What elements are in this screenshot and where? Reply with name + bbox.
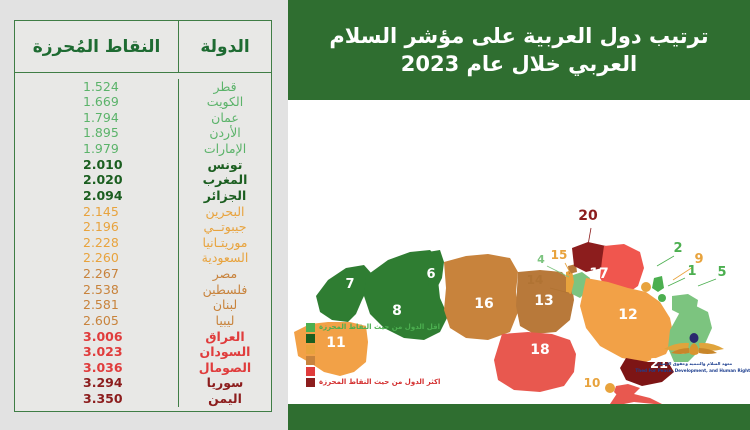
table-cell-points: 1.669 bbox=[15, 95, 178, 111]
table-cell-country: السعودية bbox=[179, 251, 271, 267]
table-cell-country: السودان bbox=[179, 345, 271, 361]
map-region-morocco[interactable] bbox=[316, 265, 372, 322]
map-leader-line bbox=[668, 278, 685, 286]
table-cell-country: البحرين bbox=[179, 204, 271, 220]
map-label[interactable]: 7 bbox=[345, 277, 354, 292]
legend-row-2 bbox=[306, 333, 466, 343]
table-cell-country: الصومال bbox=[179, 360, 271, 376]
map-leader-line bbox=[698, 279, 716, 286]
table-cell-country: موريتـانيا bbox=[179, 235, 271, 251]
table-cell-country: الكويت bbox=[179, 95, 271, 111]
map-region-sudan[interactable] bbox=[494, 332, 576, 392]
table-cell-points: 2.267 bbox=[15, 267, 178, 283]
legend-swatch-lowest bbox=[306, 323, 315, 332]
map-leader-line bbox=[657, 256, 674, 266]
column-header-country: الدولة bbox=[178, 21, 271, 72]
map-label[interactable]: 18 bbox=[530, 342, 549, 358]
legend-swatch-highest bbox=[306, 378, 315, 387]
legend-swatch-4 bbox=[306, 356, 315, 365]
table-header-row: الدولة النقاط المُحرزة bbox=[15, 21, 271, 73]
map-label[interactable]: 12 bbox=[618, 307, 637, 323]
table-cell-country: ليبيا bbox=[179, 313, 271, 329]
legend-row-5 bbox=[306, 366, 466, 376]
map-region-bahrain[interactable] bbox=[658, 294, 666, 302]
table-cell-points: 1.979 bbox=[15, 142, 178, 158]
map-label[interactable]: 5 bbox=[717, 265, 726, 280]
map-label[interactable]: 4 bbox=[537, 253, 545, 266]
page-title: ترتيب دول العربية على مؤشر السلام العربي… bbox=[319, 22, 719, 79]
table-cell-country: لبنان bbox=[179, 298, 271, 314]
table-cell-points: 2.196 bbox=[15, 220, 178, 236]
map-label[interactable]: 6 bbox=[426, 267, 435, 282]
table-cell-country: الإمارات bbox=[179, 142, 271, 158]
map-label[interactable]: 17 bbox=[589, 266, 608, 282]
map-label[interactable]: 9 bbox=[694, 252, 703, 267]
table-cell-country: قطر bbox=[179, 79, 271, 95]
table-cell-points: 2.605 bbox=[15, 313, 178, 329]
table-cell-points: 3.350 bbox=[15, 392, 178, 408]
table-cell-country: مصر bbox=[179, 267, 271, 283]
legend-swatch-2 bbox=[306, 334, 315, 343]
organization-logo: معهد السلام والتنمية وحقوق الإنسان Thed … bbox=[646, 318, 742, 374]
table-cell-points: 1.895 bbox=[15, 126, 178, 142]
column-header-points: النقاط المُحرزة bbox=[15, 21, 178, 72]
map-label[interactable]: 2 bbox=[673, 241, 682, 256]
map-label[interactable]: 20 bbox=[578, 208, 598, 224]
table-cell-points: 2.020 bbox=[15, 173, 178, 189]
table-cell-country: عمان bbox=[179, 110, 271, 126]
ranking-table: الدولة النقاط المُحرزة قطرالكويتعمانالأر… bbox=[14, 20, 272, 412]
table-cell-points: 2.145 bbox=[15, 204, 178, 220]
map-region-kuwait[interactable] bbox=[641, 282, 651, 292]
table-body: قطرالكويتعمانالأردنالإماراتتونسالمغربالج… bbox=[15, 73, 271, 411]
map-label[interactable]: 8 bbox=[392, 303, 402, 319]
table-cell-points: 2.094 bbox=[15, 188, 178, 204]
legend-swatch-5 bbox=[306, 367, 315, 376]
legend-row-highest: اكثر الدول من حيث النقاط المحرزة bbox=[306, 377, 466, 387]
legend-label-lowest: اقل الدول من حيث النقاط المحرزة bbox=[319, 323, 440, 331]
map-label[interactable]: 15 bbox=[551, 248, 568, 262]
country-column: قطرالكويتعمانالأردنالإماراتتونسالمغربالج… bbox=[178, 79, 271, 407]
table-cell-points: 1.794 bbox=[15, 110, 178, 126]
table-cell-points: 2.538 bbox=[15, 282, 178, 298]
map-label[interactable]: 10 bbox=[584, 376, 601, 390]
table-cell-country: اليمن bbox=[179, 392, 271, 408]
legend-swatch-3 bbox=[306, 345, 315, 354]
legend-row-4 bbox=[306, 355, 466, 365]
map-label[interactable]: 13 bbox=[534, 293, 553, 309]
table-cell-points: 3.006 bbox=[15, 329, 178, 345]
map-legend: اقل الدول من حيث النقاط المحرزة اكثر الد… bbox=[306, 322, 466, 387]
table-cell-country: جيبوتــي bbox=[179, 220, 271, 236]
legend-row-lowest: اقل الدول من حيث النقاط المحرزة bbox=[306, 322, 466, 332]
table-cell-country: العراق bbox=[179, 329, 271, 345]
legend-label-highest: اكثر الدول من حيث النقاط المحرزة bbox=[319, 378, 440, 386]
map-panel: ترتيب دول العربية على مؤشر السلام العربي… bbox=[288, 0, 750, 430]
points-column: 1.5241.6691.7941.8951.9792.0102.0202.094… bbox=[15, 79, 178, 407]
map-label[interactable]: 16 bbox=[474, 296, 493, 312]
table-cell-points: 2.010 bbox=[15, 157, 178, 173]
ranking-panel: الدولة النقاط المُحرزة قطرالكويتعمانالأر… bbox=[0, 0, 288, 430]
table-cell-country: الجزائر bbox=[179, 188, 271, 204]
table-cell-points: 2.581 bbox=[15, 298, 178, 314]
infographic-root: الدولة النقاط المُحرزة قطرالكويتعمانالأر… bbox=[0, 0, 750, 430]
table-cell-country: فلسطين bbox=[179, 282, 271, 298]
table-cell-points: 1.524 bbox=[15, 79, 178, 95]
table-cell-points: 3.023 bbox=[15, 345, 178, 361]
map-label[interactable]: 14 bbox=[527, 273, 544, 287]
table-cell-points: 2.260 bbox=[15, 251, 178, 267]
legend-row-3 bbox=[306, 344, 466, 354]
table-cell-points: 3.294 bbox=[15, 376, 178, 392]
footer-bar bbox=[288, 404, 750, 430]
table-cell-country: تونس bbox=[179, 157, 271, 173]
map-region-qatar[interactable] bbox=[652, 276, 664, 292]
winged-figure-icon bbox=[663, 331, 725, 361]
logo-caption-english: Thed For Peace, Development, and Human R… bbox=[635, 368, 750, 374]
table-cell-points: 3.036 bbox=[15, 360, 178, 376]
title-bar: ترتيب دول العربية على مؤشر السلام العربي… bbox=[288, 0, 750, 100]
map-area: 123456789101112131415161718192021 اقل ال… bbox=[288, 100, 750, 404]
table-cell-points: 2.228 bbox=[15, 235, 178, 251]
table-cell-country: الأردن bbox=[179, 126, 271, 142]
table-cell-country: سوريا bbox=[179, 376, 271, 392]
table-cell-country: المغرب bbox=[179, 173, 271, 189]
